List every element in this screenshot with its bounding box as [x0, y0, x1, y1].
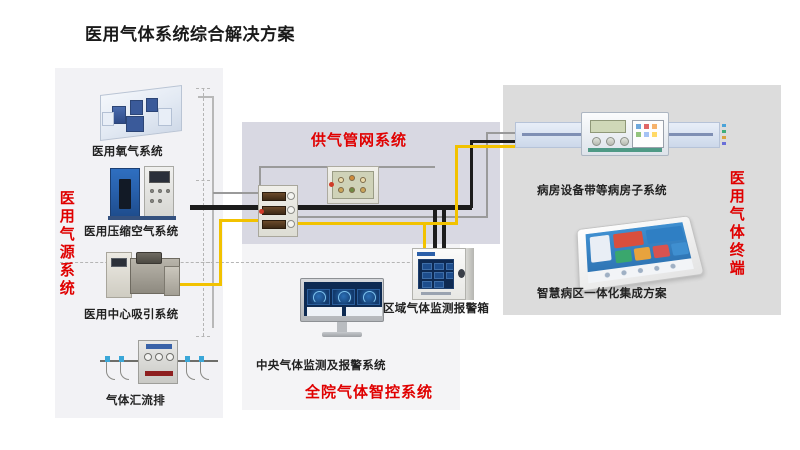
- equipment-zone-alarm-box: [412, 248, 474, 300]
- equipment-valve-box-main: [258, 185, 298, 237]
- pipe-air-riser-low: [219, 219, 222, 286]
- caption-zone-alarm-box: 区域气体监测报警箱: [383, 300, 489, 316]
- label-gas-source-system: 医用气源系统: [58, 190, 74, 298]
- pipe-air-to-bedhead: [455, 145, 518, 148]
- dashed-tick-mid: [196, 180, 210, 181]
- equipment-vacuum-system: [106, 250, 182, 302]
- equipment-compressed-air: [108, 166, 178, 220]
- dashed-guide-vertical: [203, 88, 204, 336]
- pipe-air-right-run: [296, 222, 458, 225]
- pipe-vacuum-right-riser: [470, 140, 473, 208]
- equipment-bed-head-unit: [515, 110, 720, 158]
- pipe-vacuum-left: [190, 205, 260, 210]
- heading-pipe-network-system: 供气管网系统: [311, 129, 407, 150]
- pipe-riser-top-elbow: [198, 96, 214, 98]
- pipe-riser-vertical: [212, 96, 214, 328]
- label-gas-terminal-system: 医用气体终端: [728, 170, 744, 278]
- equipment-smart-ward-tablet: [578, 218, 698, 284]
- pipe-vacuum-to-bedhead: [470, 140, 518, 143]
- heading-hospital-control-system: 全院气体智控系统: [305, 381, 433, 402]
- diagram-canvas: 医用气体系统综合解决方案 医用氧气系统: [0, 0, 800, 450]
- caption-central-monitoring-system: 中央气体监测及报警系统: [256, 357, 386, 373]
- pipe-air-riser-right: [455, 145, 458, 225]
- pipe-air-to-valvebox: [219, 219, 261, 222]
- pipe-oxygen-right-run: [298, 216, 488, 218]
- equipment-central-monitor: [300, 278, 384, 340]
- caption-gas-manifold: 气体汇流排: [106, 392, 165, 408]
- dashed-tick-bottom: [196, 336, 210, 337]
- pipe-oxygen-to-box2: [259, 166, 329, 168]
- equipment-oxygen-plant: [96, 86, 184, 142]
- dashed-tick-top: [196, 88, 210, 89]
- caption-bed-head-unit: 病房设备带等病房子系统: [537, 182, 667, 198]
- pipe-oxygen-horizontal: [213, 192, 261, 194]
- page-title: 医用气体系统综合解决方案: [85, 20, 295, 45]
- equipment-gas-manifold: [100, 340, 218, 388]
- caption-vacuum-system: 医用中心吸引系统: [84, 306, 178, 322]
- pipe-oxygen-box2-right: [377, 166, 435, 168]
- caption-compressed-air-system: 医用压缩空气系统: [84, 223, 178, 239]
- caption-oxygen-system: 医用氧气系统: [92, 143, 163, 159]
- equipment-valve-box-secondary: [327, 166, 379, 204]
- caption-smart-ward-solution: 智慧病区一体化集成方案: [537, 285, 667, 301]
